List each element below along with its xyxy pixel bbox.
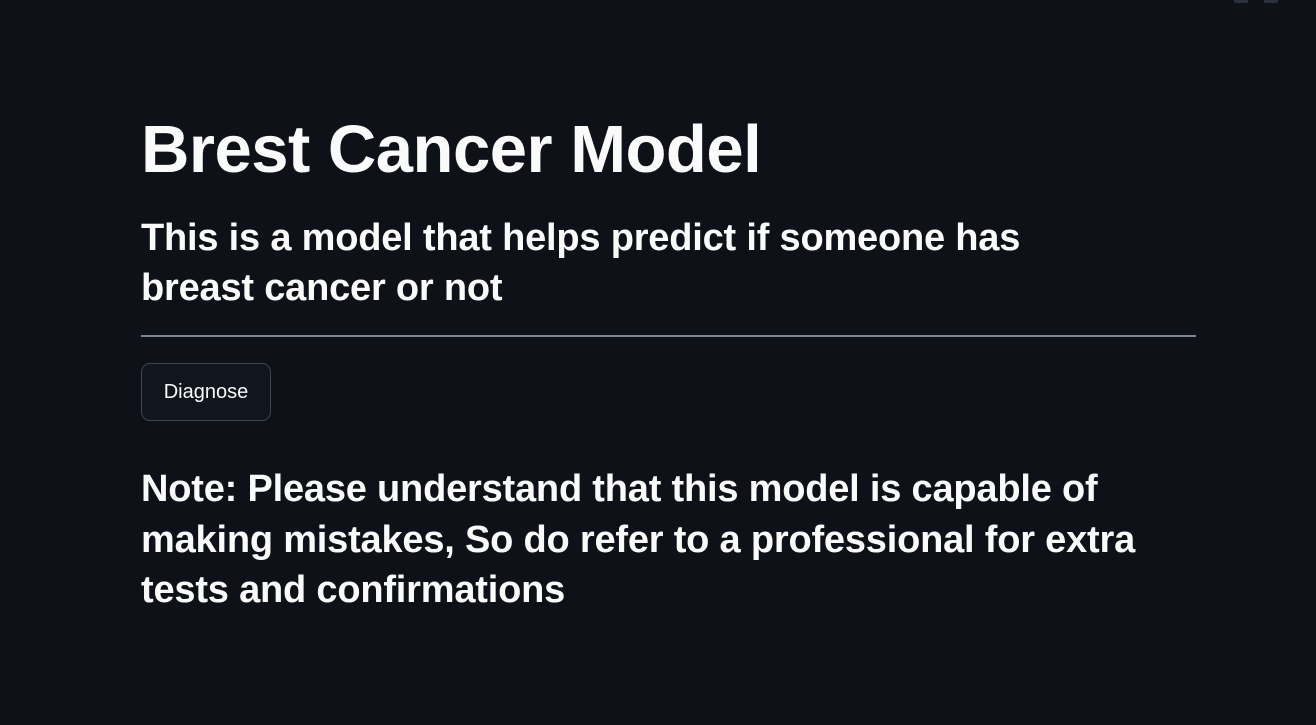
app-root: Brest Cancer Model This is a model that …	[0, 0, 1316, 725]
disclaimer-note: Note: Please understand that this model …	[141, 421, 1151, 616]
button-row: Diagnose	[141, 337, 1196, 421]
diagnose-button[interactable]: Diagnose	[141, 363, 271, 421]
app-description: This is a model that helps predict if so…	[141, 187, 1141, 313]
toolbar-nub-icon[interactable]	[1234, 0, 1248, 3]
main-block-container: Brest Cancer Model This is a model that …	[141, 0, 1196, 616]
top-toolbar	[1234, 0, 1278, 5]
toolbar-menu-icon[interactable]	[1264, 0, 1278, 3]
page-title: Brest Cancer Model	[141, 0, 1196, 187]
